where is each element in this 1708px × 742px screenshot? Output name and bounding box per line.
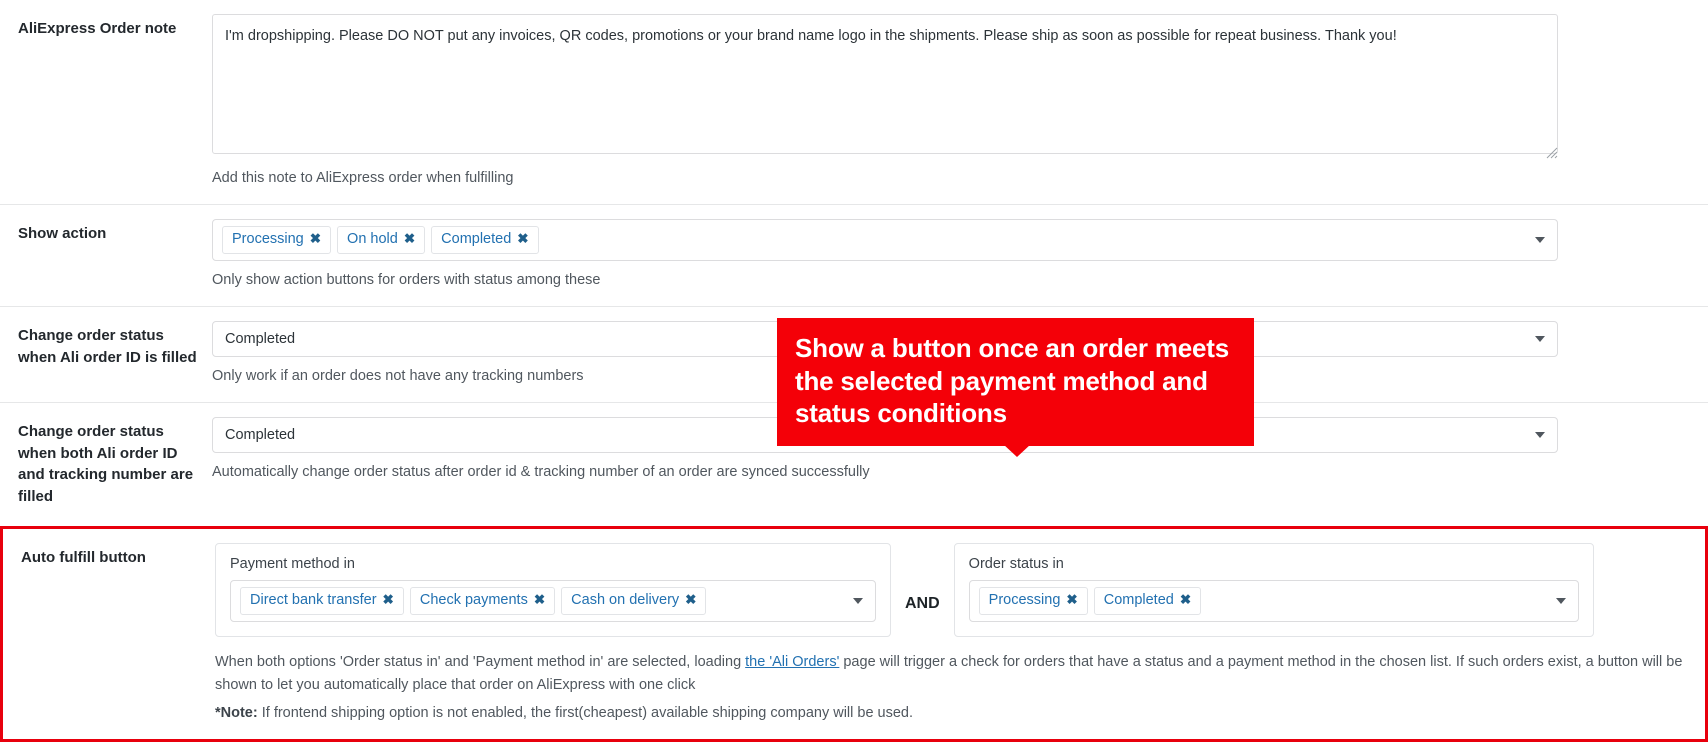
label-show-action: Show action (0, 205, 212, 263)
payment-method-panel-label: Payment method in (230, 556, 876, 572)
row-show-action: Show action Processing ✖ On hold ✖ Compl… (0, 204, 1708, 306)
order-status-panel: Order status in Processing ✖ Completed ✖ (954, 543, 1594, 638)
row-aliexpress-order-note: AliExpress Order note Add this note to A… (0, 0, 1708, 204)
note-text: If frontend shipping option is not enabl… (258, 705, 913, 721)
chevron-down-icon[interactable] (1535, 237, 1545, 243)
settings-page: AliExpress Order note Add this note to A… (0, 0, 1708, 697)
status-ali-id-selected-value: Completed (225, 331, 295, 347)
tag-payment-method-2[interactable]: Cash on delivery ✖ (561, 587, 706, 616)
remove-tag-icon[interactable]: ✖ (534, 591, 545, 609)
description-aliexpress-order-note: Add this note to AliExpress order when f… (212, 168, 1688, 190)
label-aliexpress-order-note: AliExpress Order note (0, 0, 212, 58)
remove-tag-icon[interactable]: ✖ (404, 230, 415, 248)
description-status-when-both-filled: Automatically change order status after … (212, 462, 1688, 484)
tag-show-action-2[interactable]: Completed ✖ (431, 226, 538, 255)
callout-banner: Show a button once an order meets the se… (777, 318, 1254, 446)
remove-tag-icon[interactable]: ✖ (685, 591, 696, 609)
tag-label: Completed (1104, 591, 1174, 611)
label-auto-fulfill-button: Auto fulfill button (3, 529, 215, 587)
remove-tag-icon[interactable]: ✖ (310, 230, 321, 248)
conjunction-and: AND (891, 595, 954, 613)
tag-show-action-1[interactable]: On hold ✖ (337, 226, 425, 255)
auto-fulfill-description: When both options 'Order status in' and … (215, 651, 1685, 696)
tag-label: Processing (232, 230, 304, 250)
order-status-panel-label: Order status in (969, 556, 1579, 572)
remove-tag-icon[interactable]: ✖ (517, 230, 528, 248)
chevron-down-icon[interactable] (853, 598, 863, 604)
tag-show-action-0[interactable]: Processing ✖ (222, 226, 331, 255)
field-aliexpress-order-note: Add this note to AliExpress order when f… (212, 0, 1708, 204)
tag-label: On hold (347, 230, 398, 250)
show-action-multiselect[interactable]: Processing ✖ On hold ✖ Completed ✖ (212, 219, 1558, 262)
auto-fulfill-conditions: Payment method in Direct bank transfer ✖… (215, 543, 1685, 638)
auto-fulfill-shipping-note: *Note: If frontend shipping option is no… (215, 702, 1685, 724)
remove-tag-icon[interactable]: ✖ (1180, 591, 1191, 609)
tag-order-status-0[interactable]: Processing ✖ (979, 587, 1088, 616)
chevron-down-icon[interactable] (1535, 432, 1545, 438)
chevron-down-icon[interactable] (1535, 336, 1545, 342)
label-status-when-ali-id-filled: Change order status when Ali order ID is… (0, 307, 212, 387)
status-both-selected-value: Completed (225, 427, 295, 443)
row-auto-fulfill-button: Auto fulfill button Payment method in Di… (0, 526, 1708, 742)
note-label: *Note: (215, 705, 258, 721)
tag-payment-method-0[interactable]: Direct bank transfer ✖ (240, 587, 404, 616)
remove-tag-icon[interactable]: ✖ (383, 591, 394, 609)
auto-fulfill-note-pre: When both options 'Order status in' and … (215, 654, 745, 670)
tag-label: Check payments (420, 591, 528, 611)
order-status-multiselect[interactable]: Processing ✖ Completed ✖ (969, 580, 1579, 623)
tag-payment-method-1[interactable]: Check payments ✖ (410, 587, 555, 616)
description-show-action: Only show action buttons for orders with… (212, 270, 1688, 292)
chevron-down-icon[interactable] (1556, 598, 1566, 604)
field-auto-fulfill-button: Payment method in Direct bank transfer ✖… (215, 529, 1705, 739)
tag-label: Processing (989, 591, 1061, 611)
ali-orders-link[interactable]: the 'Ali Orders' (745, 654, 839, 670)
field-show-action: Processing ✖ On hold ✖ Completed ✖ Only … (212, 205, 1708, 306)
tag-label: Cash on delivery (571, 591, 679, 611)
tag-order-status-1[interactable]: Completed ✖ (1094, 587, 1201, 616)
tag-label: Completed (441, 230, 511, 250)
callout-tail-pointer (989, 431, 1045, 457)
tag-label: Direct bank transfer (250, 591, 377, 611)
payment-method-multiselect[interactable]: Direct bank transfer ✖ Check payments ✖ … (230, 580, 876, 623)
order-note-textarea-wrap (212, 14, 1558, 159)
order-note-textarea[interactable] (212, 14, 1558, 154)
label-status-when-both-filled: Change order status when both Ali order … (0, 403, 212, 526)
payment-method-panel: Payment method in Direct bank transfer ✖… (215, 543, 891, 638)
remove-tag-icon[interactable]: ✖ (1066, 591, 1077, 609)
